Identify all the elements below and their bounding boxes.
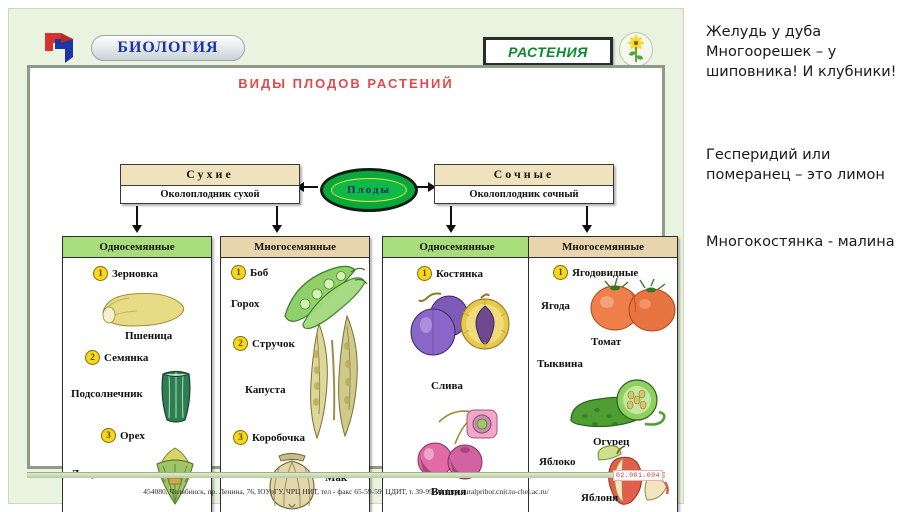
entry-type-label: Ягодовидные bbox=[572, 267, 638, 279]
arrow-dry-col2 bbox=[276, 206, 278, 226]
badge-number: 1 bbox=[231, 265, 246, 280]
entry-korobochka: 3 Коробочка bbox=[233, 430, 305, 445]
column-dry-monospermous: Односемянные 1 Зерновка Пшеница bbox=[62, 236, 212, 512]
badge-number: 2 bbox=[233, 336, 248, 351]
column-juicy-monospermous: Односемянные 1 Костянка bbox=[382, 236, 532, 512]
badge-number: 2 bbox=[85, 350, 100, 365]
note-drupelet: Многокостянка - малина bbox=[706, 232, 904, 252]
badge-number: 1 bbox=[93, 266, 108, 281]
entry-example-pea: Горох bbox=[231, 298, 259, 310]
category-juicy-title: Сочные bbox=[435, 165, 613, 186]
category-dry-subtitle: Околоплодник сухой bbox=[121, 186, 299, 203]
badge-number: 1 bbox=[417, 266, 432, 281]
arrow-to-juicy bbox=[414, 186, 428, 188]
arrow-juicy-col4 bbox=[586, 206, 588, 226]
wheat-grain-illustration bbox=[95, 288, 187, 328]
arrow-to-dry bbox=[304, 186, 318, 188]
arrow-dry-col1 bbox=[136, 206, 138, 226]
biology-poster: БИОЛОГИЯ РАСТЕНИЯ bbox=[8, 8, 684, 504]
entry-semyanka: 2 Семянка bbox=[85, 350, 148, 365]
entry-bob: 1 Боб bbox=[231, 265, 268, 280]
column-1-header: Односемянные bbox=[63, 237, 211, 258]
entry-type-label: Семянка bbox=[104, 352, 148, 364]
code-badge: 02.001.004 bbox=[613, 470, 663, 481]
cabbage-silique-illustration bbox=[297, 314, 367, 444]
node-fruits-label: Плоды bbox=[347, 184, 391, 196]
badge-number: 3 bbox=[233, 430, 248, 445]
topic-label: РАСТЕНИЯ bbox=[508, 44, 588, 60]
entry-type-label: Стручок bbox=[252, 338, 295, 350]
footer-bar bbox=[27, 472, 665, 478]
entry-oreh: 3 Орех bbox=[101, 428, 145, 443]
publisher-address: 454080, Челябинск, пр. Ленина, 76, ЮУрГУ… bbox=[9, 487, 683, 496]
poppy-capsule-illustration bbox=[261, 448, 323, 510]
note-hesperidium: Гесперидий или померанец – это лимон bbox=[706, 145, 904, 185]
entry-example-tomato: Томат bbox=[591, 336, 621, 348]
sunflower-icon bbox=[619, 32, 653, 67]
category-juicy: Сочные Околоплодник сочный bbox=[434, 164, 614, 204]
arrow-juicy-col3 bbox=[450, 206, 452, 226]
entry-type-label: Костянка bbox=[436, 268, 483, 280]
note-acorn: Желудь у дуба Многоорешек – у шиповника!… bbox=[706, 22, 904, 82]
poster-header: БИОЛОГИЯ РАСТЕНИЯ bbox=[9, 9, 683, 61]
category-juicy-subtitle: Околоплодник сочный bbox=[435, 186, 613, 203]
entry-type-pepo: Тыквина bbox=[537, 358, 583, 370]
entry-struchok: 2 Стручок bbox=[233, 336, 295, 351]
entry-example-wheat: Пшеница bbox=[125, 330, 172, 342]
tomato-illustration bbox=[585, 278, 677, 334]
slide-root: БИОЛОГИЯ РАСТЕНИЯ bbox=[0, 0, 910, 512]
badge-number: 1 bbox=[553, 265, 568, 280]
plum-illustration bbox=[403, 290, 515, 362]
board-title: ВИДЫ ПЛОДОВ РАСТЕНИЙ bbox=[30, 76, 662, 91]
badge-number: 3 bbox=[101, 428, 116, 443]
category-dry-title: Сухие bbox=[121, 165, 299, 186]
entry-example-cabbage: Капуста bbox=[245, 384, 286, 396]
column-2-header: Многосемянные bbox=[221, 237, 369, 258]
column-dry-polyspermous: Многосемянные 1 Боб bbox=[220, 236, 370, 512]
entry-type-berry: Ягода bbox=[541, 300, 570, 312]
entry-kostyanka: 1 Костянка bbox=[417, 266, 483, 281]
node-fruits: Плоды bbox=[320, 168, 418, 212]
topic-badge: РАСТЕНИЯ bbox=[483, 37, 613, 66]
sunflower-seed-illustration bbox=[159, 368, 193, 424]
publisher-logo-icon bbox=[43, 31, 83, 65]
entry-example-plum: Слива bbox=[431, 380, 463, 392]
subject-label: БИОЛОГИЯ bbox=[117, 39, 218, 57]
entry-type-label: Коробочка bbox=[252, 432, 305, 444]
entry-type-label: Орех bbox=[120, 430, 145, 442]
entry-type-pome: Яблоко bbox=[539, 456, 576, 468]
diagram-board: ВИДЫ ПЛОДОВ РАСТЕНИЙ Плоды Сухие Околопл… bbox=[27, 65, 665, 469]
subject-badge: БИОЛОГИЯ bbox=[91, 35, 245, 61]
entry-type-label: Боб bbox=[250, 267, 268, 279]
column-3-header: Односемянные bbox=[383, 237, 531, 258]
entry-zernovka: 1 Зерновка bbox=[93, 266, 158, 281]
column-4-header: Многосемянные bbox=[529, 237, 677, 258]
entry-type-label: Зерновка bbox=[112, 268, 158, 280]
entry-example-sunflower: Подсолнечник bbox=[71, 388, 143, 400]
category-dry: Сухие Околоплодник сухой bbox=[120, 164, 300, 204]
notes-panel: Желудь у дуба Многоорешек – у шиповника!… bbox=[700, 0, 910, 512]
cucumber-illustration bbox=[565, 376, 673, 440]
